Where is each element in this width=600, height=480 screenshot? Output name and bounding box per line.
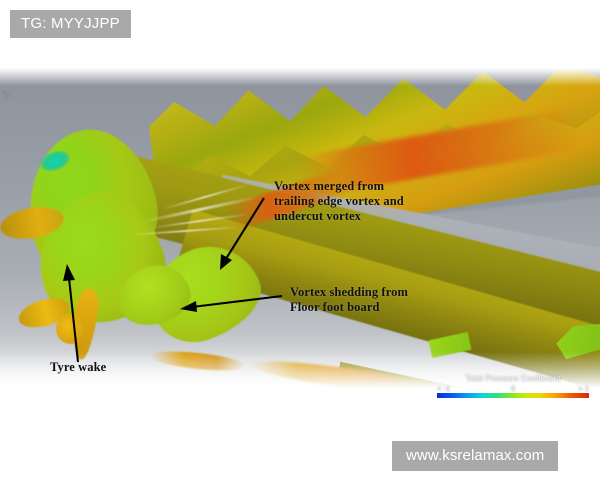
tag-badge: TG: MYYJJPP <box>10 10 131 38</box>
watermark-badge: www.ksrelamax.com <box>392 441 558 471</box>
colorbar-title: Total Pressure Coefficient <box>437 374 589 383</box>
colorbar-gradient <box>437 393 589 398</box>
colorbar-legend: Total Pressure Coefficient < -1 0 > 1 <box>437 374 589 398</box>
colorbar-tick-max: > 1 <box>578 384 589 393</box>
annotation-arrow-tyre-wake <box>62 264 88 364</box>
clipped-edge-label: Si <box>2 90 11 101</box>
colorbar-tick-mid: 0 <box>511 384 515 393</box>
cfd-render-viewport: Si Vortex merged from trailing edge vort… <box>0 68 600 398</box>
annotation-vortex-merged: Vortex merged from trailing edge vortex … <box>274 179 404 224</box>
scene-top-fade <box>0 68 600 86</box>
annotation-vortex-shedding: Vortex shedding from Floor foot board <box>290 285 408 315</box>
colorbar-tick-min: < -1 <box>437 384 450 393</box>
annotation-arrow-vortex-merged <box>212 196 272 272</box>
colorbar-tick-labels: < -1 0 > 1 <box>437 384 589 393</box>
annotation-arrow-vortex-shedding <box>178 292 284 312</box>
annotation-tyre-wake: Tyre wake <box>50 360 106 375</box>
image-viewer: Si Vortex merged from trailing edge vort… <box>0 0 600 480</box>
